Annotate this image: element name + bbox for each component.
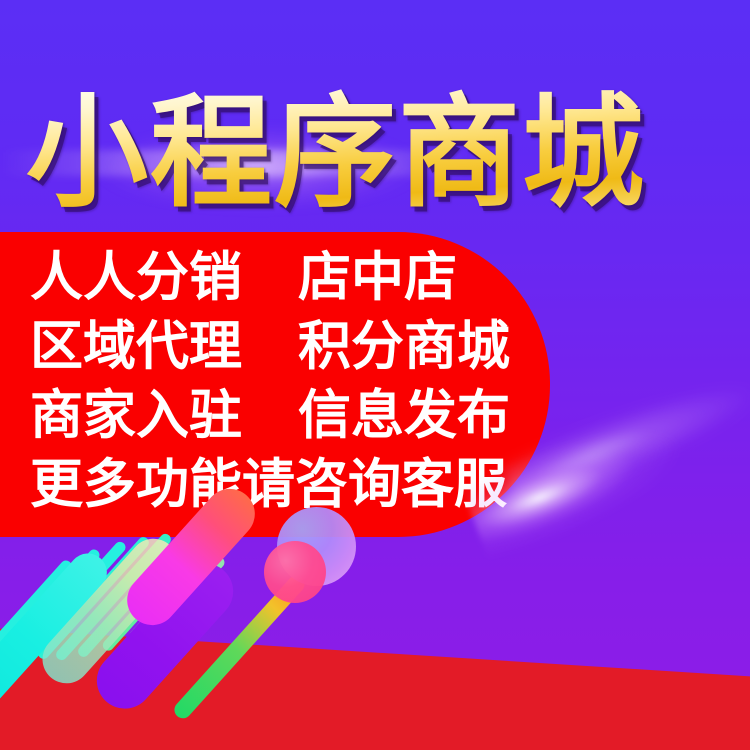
feature-row: 人人分销 店中店 <box>30 243 550 312</box>
feature-item: 人人分销 <box>30 243 298 312</box>
feature-item: 积分商城 <box>298 312 510 381</box>
page-title: 小程序商城 <box>26 86 726 218</box>
feature-item: 信息发布 <box>298 381 510 450</box>
feature-item: 区域代理 <box>30 312 298 381</box>
feature-row: 商家入驻 信息发布 <box>30 381 550 450</box>
feature-item: 商家入驻 <box>30 381 298 450</box>
support-note: 更多功能请咨询客服 <box>30 450 530 519</box>
title-block: 小程序商城 <box>26 86 726 226</box>
feature-row: 区域代理 积分商城 <box>30 312 550 381</box>
promo-banner: 小程序商城 人人分销 店中店 区域代理 积分商城 商家入驻 信息发布 更多功能请… <box>0 0 750 750</box>
feature-item: 店中店 <box>298 243 457 312</box>
circle-pink <box>264 541 326 603</box>
feature-list: 人人分销 店中店 区域代理 积分商城 商家入驻 信息发布 更多功能请咨询客服 <box>30 243 550 519</box>
feature-row-footnote: 更多功能请咨询客服 <box>30 450 550 519</box>
